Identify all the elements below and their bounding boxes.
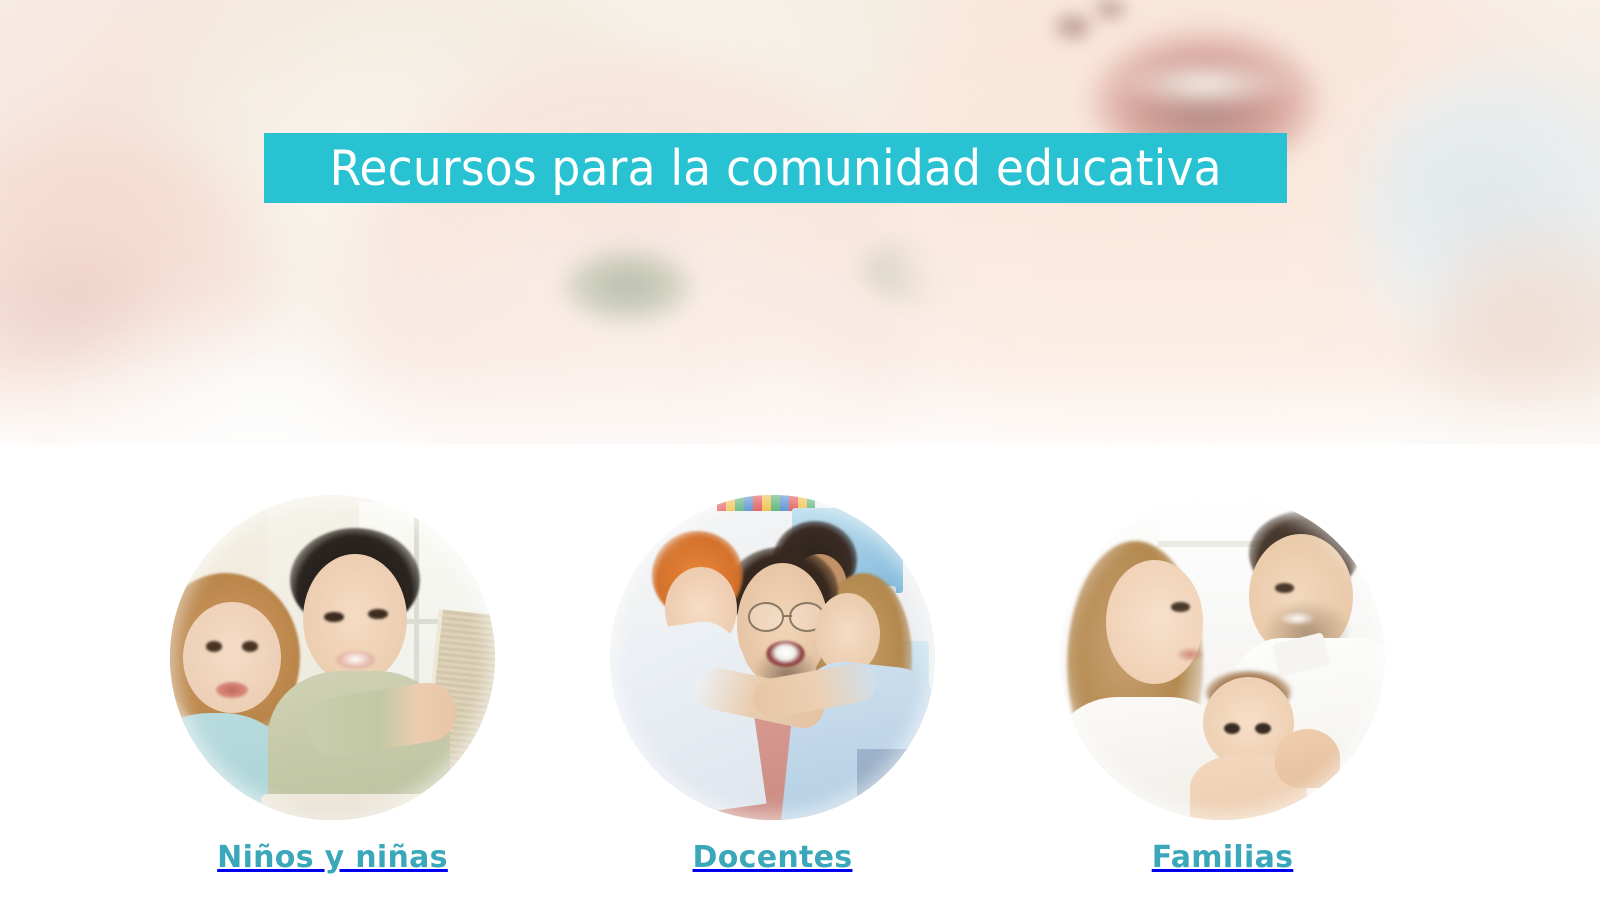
hero-title-banner: Recursos para la comunidad educativa bbox=[264, 133, 1287, 203]
hero-background-photo bbox=[0, 0, 1600, 444]
page-root: Recursos para la comunidad educativa bbox=[0, 0, 1600, 900]
card-image-ninos-y-ninas[interactable] bbox=[170, 495, 495, 820]
card-label-ninos-y-ninas: Niños y niñas bbox=[170, 841, 495, 874]
illustration-family-with-baby bbox=[1060, 495, 1385, 820]
audience-cards-section: Niños y niñas bbox=[0, 444, 1600, 900]
card-label-familias: Familias bbox=[1060, 841, 1385, 874]
illustration-children-at-computer bbox=[170, 495, 495, 820]
card-ninos-y-ninas[interactable]: Niños y niñas bbox=[170, 495, 495, 874]
illustration-teacher-with-children bbox=[610, 495, 935, 820]
card-docentes[interactable]: Docentes bbox=[610, 495, 935, 874]
card-image-docentes[interactable] bbox=[610, 495, 935, 820]
card-image-familias[interactable] bbox=[1060, 495, 1385, 820]
hero-banner: Recursos para la comunidad educativa bbox=[0, 0, 1600, 444]
card-familias[interactable]: Familias bbox=[1060, 495, 1385, 874]
page-title: Recursos para la comunidad educativa bbox=[329, 144, 1221, 193]
hero-white-overlay bbox=[0, 0, 1600, 444]
card-label-docentes: Docentes bbox=[610, 841, 935, 874]
